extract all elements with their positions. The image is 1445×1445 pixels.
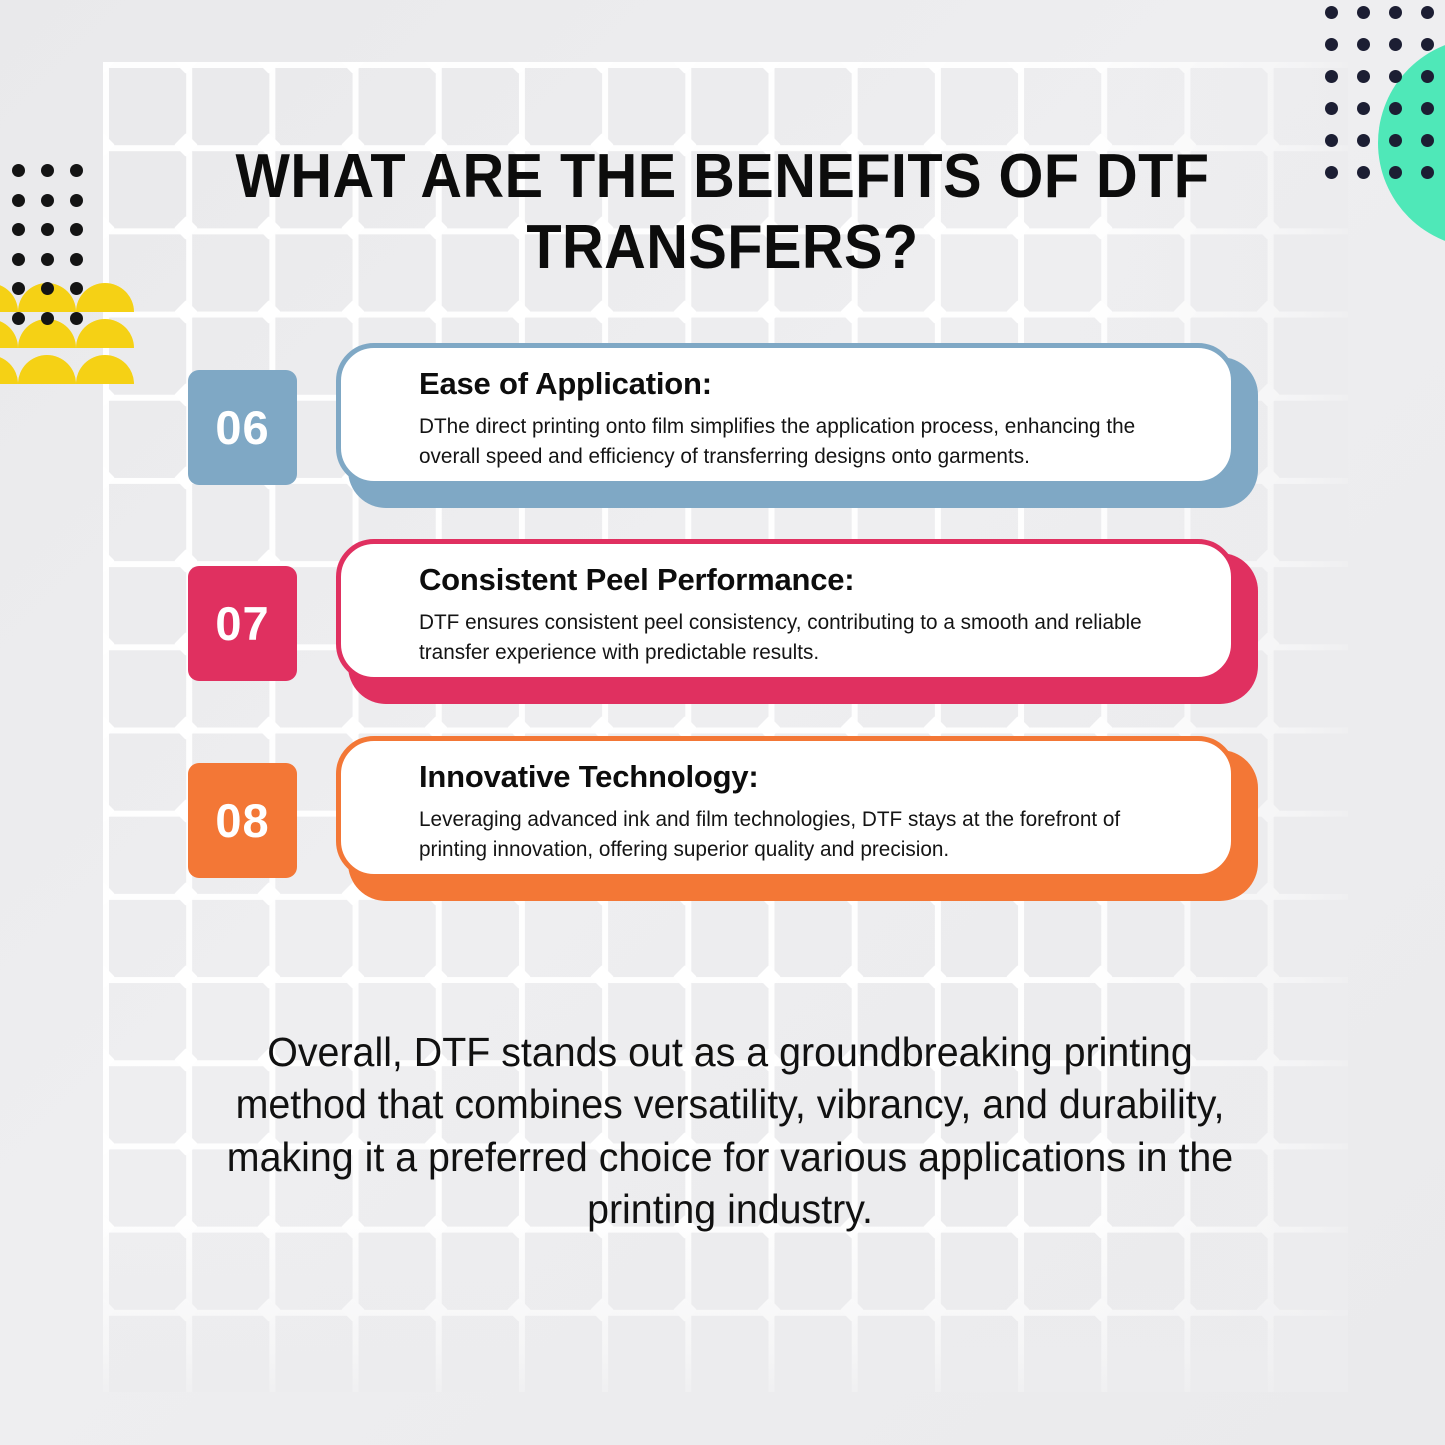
card-surface-07: Consistent Peel Performance: DTF ensures…	[336, 539, 1236, 682]
card-container-06: Ease of Application: DThe direct printin…	[336, 343, 1258, 508]
card-container-08: Innovative Technology: Leveraging advanc…	[336, 736, 1258, 901]
card-title-06: Ease of Application:	[419, 366, 1195, 402]
card-body-07: DTF ensures consistent peel consistency,…	[419, 607, 1168, 667]
card-surface-08: Innovative Technology: Leveraging advanc…	[336, 736, 1236, 879]
card-number-badge-06: 06	[188, 370, 297, 485]
summary-paragraph: Overall, DTF stands out as a groundbreak…	[207, 1026, 1253, 1236]
card-body-06: DThe direct printing onto film simplifie…	[419, 411, 1168, 471]
card-number-badge-08: 08	[188, 763, 297, 878]
card-title-08: Innovative Technology:	[419, 759, 1195, 795]
card-number-badge-07: 07	[188, 566, 297, 681]
page-title: WHAT ARE THE BENEFITS OF DTF TRANSFERS?	[209, 142, 1237, 283]
card-body-08: Leveraging advanced ink and film technol…	[419, 804, 1168, 864]
infographic-canvas: WHAT ARE THE BENEFITS OF DTF TRANSFERS? …	[0, 0, 1445, 1445]
yellow-arches-decoration	[0, 283, 155, 388]
card-title-07: Consistent Peel Performance:	[419, 562, 1195, 598]
card-container-07: Consistent Peel Performance: DTF ensures…	[336, 539, 1258, 704]
mint-circle-decoration	[1378, 38, 1445, 248]
card-surface-06: Ease of Application: DThe direct printin…	[336, 343, 1236, 486]
